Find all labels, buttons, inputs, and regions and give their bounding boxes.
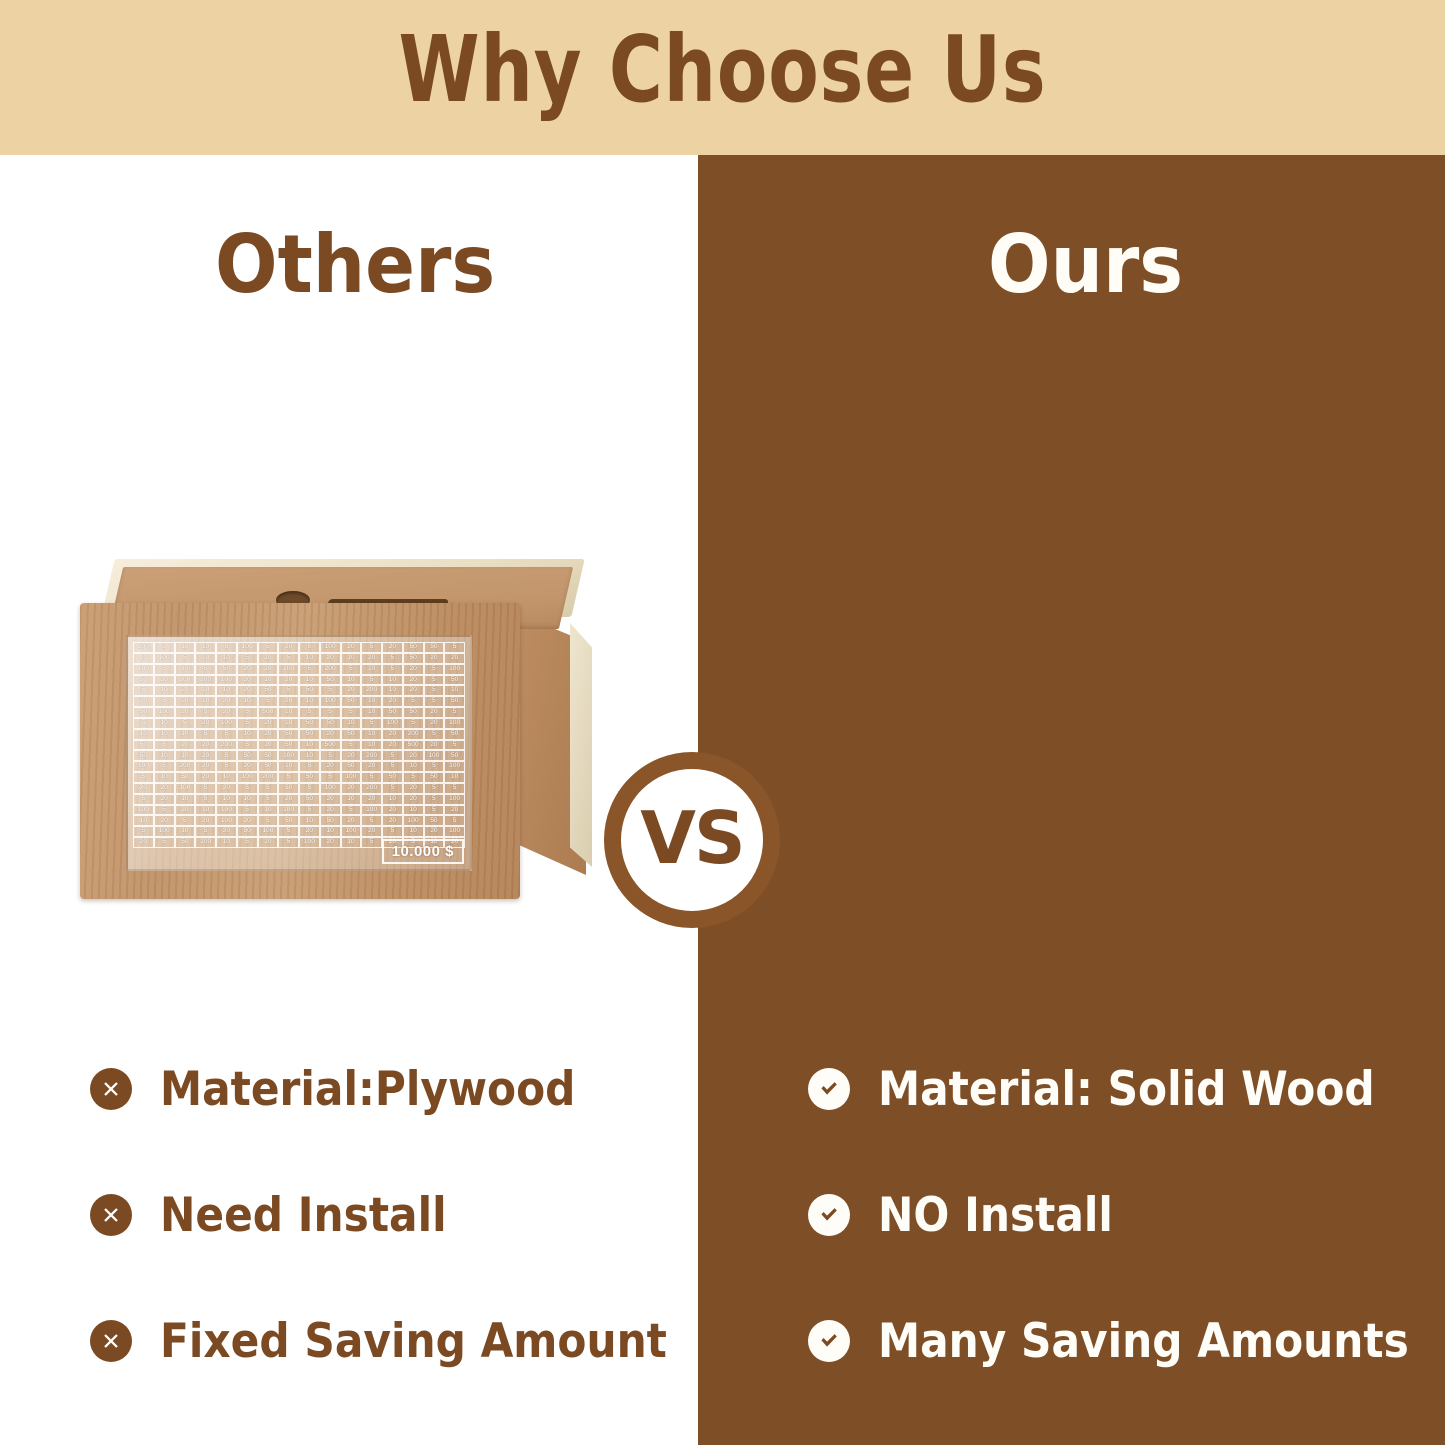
amount-cell: 20 [382,805,403,816]
amount-cell: 5 [195,794,216,805]
amount-cell: 50 [278,729,299,740]
amount-cell: 20 [341,783,362,794]
amount-cell: 500 [320,740,341,751]
amount-cell: 20 [258,664,279,675]
amount-cell: 5 [320,707,341,718]
amount-cell: 10 [154,729,175,740]
list-item: NO Install [808,1171,1445,1259]
amount-cell: 10 [444,772,465,783]
amount-cell: 200 [403,729,424,740]
amount-cell: 5 [278,837,299,848]
amount-cell: 10 [195,805,216,816]
amount-cell: 20 [195,740,216,751]
amount-cell: 20 [216,783,237,794]
amount-cell: 20 [258,837,279,848]
amount-cell: 5 [278,826,299,837]
amount-cell: 20 [403,685,424,696]
amount-cell: 5 [424,783,445,794]
amount-cell: 50 [299,729,320,740]
amount-cell: 20 [278,642,299,653]
amount-cell: 200 [361,750,382,761]
amount-cell: 5 [154,642,175,653]
amount-cell: 20 [424,653,445,664]
amount-cell: 20 [444,653,465,664]
amount-cell: 50 [444,696,465,707]
amount-cell: 20 [424,718,445,729]
amount-cell: 20 [320,794,341,805]
amount-cell: 20 [320,653,341,664]
amount-cell: 10 [278,707,299,718]
amount-cell: 100 [444,826,465,837]
amount-cell: 200 [258,772,279,783]
ours-feature-list: Material: Solid Wood NO Install Many Sav… [808,1045,1445,1423]
others-feature-list: Material:Plywood Need Install Fixed Savi… [90,1045,723,1423]
amount-cell: 10 [299,675,320,686]
amount-cell: 100 [154,826,175,837]
amount-cell: 10 [175,750,196,761]
amount-cell: 20 [320,805,341,816]
amount-cell: 100 [320,642,341,653]
amount-cell: 20 [175,707,196,718]
amount-cell: 5 [403,718,424,729]
amount-cell: 20 [237,815,258,826]
amount-cell: 10 [299,750,320,761]
amount-cell: 20 [278,696,299,707]
cross-circle-icon [90,1194,132,1236]
amount-cell: 50 [258,761,279,772]
amount-cell: 5 [154,837,175,848]
amount-cell: 5 [361,675,382,686]
amount-cell: 50 [382,707,403,718]
list-item-label: Fixed Saving Amount [160,1314,667,1369]
amount-cell: 20 [258,740,279,751]
amount-cell: 10 [175,642,196,653]
amount-cell: 10 [299,696,320,707]
amount-cell: 5 [299,642,320,653]
page-title: Why Choose Us [145,22,1301,119]
amount-cell: 100 [299,837,320,848]
amount-cell: 50 [341,761,362,772]
amount-cell: 50 [424,772,445,783]
amount-cell: 5 [361,772,382,783]
list-item-label: Material:Plywood [160,1062,575,1117]
amount-cell: 50 [382,772,403,783]
amount-cell: 50 [424,642,445,653]
amount-cell: 5 [258,794,279,805]
amount-cell: 10 [403,826,424,837]
amount-cell: 10 [320,826,341,837]
amount-cell: 5 [258,642,279,653]
amount-cell: 50 [320,718,341,729]
amount-cell: 10 [133,729,154,740]
amount-cell: 10 [361,729,382,740]
amount-cell: 20 [195,750,216,761]
amount-cell: 10 [361,707,382,718]
vs-badge: VS [604,752,780,928]
amount-cell: 100 [444,664,465,675]
amount-cell: 50 [403,707,424,718]
amount-cell: 5 [237,740,258,751]
amount-cell: 100 [320,696,341,707]
amount-cell: 50 [175,837,196,848]
check-circle-icon [808,1068,850,1110]
amount-cell: 5 [299,805,320,816]
amount-cell: 5 [341,664,362,675]
amount-cell: 5 [237,783,258,794]
amount-cell: 100 [278,805,299,816]
amount-cell: 50 [320,675,341,686]
amount-cell: 200 [216,740,237,751]
ours-panel: Ours 10010105020501002020100505020120550… [698,155,1445,1445]
amount-cell: 5 [258,783,279,794]
amount-cell: 5 [444,740,465,751]
amount-cell: 20 [341,815,362,826]
amount-cell: 20 [154,794,175,805]
amount-cell: 10 [382,794,403,805]
amount-cell: 5 [424,805,445,816]
cross-circle-icon [90,1320,132,1362]
amount-cell: 10 [175,664,196,675]
amount-cell: 10 [444,685,465,696]
amount-cell: 5 [133,685,154,696]
amount-cell: 10 [258,675,279,686]
plywood-front-face: 2005101051005205100205205050510100520105… [80,603,520,899]
amount-cell: 50 [403,653,424,664]
amount-cell: 5 [424,685,445,696]
amount-cell: 100 [216,718,237,729]
amount-cell: 500 [258,707,279,718]
amount-cell: 100 [424,750,445,761]
amount-cell: 20 [382,815,403,826]
amount-cell: 5 [237,707,258,718]
amount-cell: 5 [237,837,258,848]
amount-cell: 10 [341,718,362,729]
amount-cell: 20 [175,805,196,816]
list-item: Need Install [90,1171,723,1259]
amount-cell: 5 [424,794,445,805]
amount-cell: 10 [216,837,237,848]
amount-cell: 20 [424,707,445,718]
amount-cell: 10 [175,794,196,805]
amount-cell: 10 [382,675,403,686]
amount-cell: 100 [237,642,258,653]
vs-label: VS [640,802,744,874]
amount-cell: 20 [444,805,465,816]
amount-cell: 5 [258,815,279,826]
amount-cell: 10 [175,729,196,740]
amount-cell: 100 [216,805,237,816]
amount-cell: 5 [444,642,465,653]
amount-cell: 5 [382,664,403,675]
amount-cell: 100 [195,837,216,848]
amount-cell: 10 [216,685,237,696]
list-item: Material:Plywood [90,1045,723,1133]
amount-cell: 5 [237,805,258,816]
plywood-amount-grid: 2005101051005205100205205050510100520105… [133,642,465,848]
amount-cell: 20 [341,685,362,696]
amount-cell: 20 [424,826,445,837]
amount-cell: 5 [382,783,403,794]
amount-cell: 500 [403,740,424,751]
amount-cell: 10 [299,653,320,664]
amount-cell: 200 [361,685,382,696]
amount-cell: 20 [216,707,237,718]
amount-cell: 10 [382,685,403,696]
amount-cell: 20 [154,783,175,794]
amount-cell: 5 [424,696,445,707]
amount-cell: 20 [320,837,341,848]
amount-cell: 10 [341,837,362,848]
amount-cell: 10 [361,740,382,751]
amount-cell: 10 [195,696,216,707]
amount-cell: 20 [382,642,403,653]
amount-cell: 10 [403,761,424,772]
amount-cell: 100 [237,772,258,783]
amount-cell: 10 [216,794,237,805]
amount-cell: 5 [403,696,424,707]
amount-cell: 5 [195,664,216,675]
amount-cell: 20 [258,729,279,740]
amount-cell: 200 [361,783,382,794]
plywood-side-ply-edge [570,623,592,867]
amount-cell: 5 [424,761,445,772]
amount-cell: 200 [133,642,154,653]
check-circle-icon [808,1194,850,1236]
amount-cell: 5 [320,772,341,783]
amount-cell: 20 [133,696,154,707]
amount-cell: 10 [237,696,258,707]
amount-cell: 20 [154,675,175,686]
plywood-acrylic-panel: 2005101051005205100205205050510100520105… [126,635,472,871]
amount-cell: 10 [237,794,258,805]
amount-cell: 5 [361,815,382,826]
amount-cell: 100 [444,718,465,729]
amount-cell: 100 [154,707,175,718]
amount-cell: 20 [361,794,382,805]
amount-cell: 20 [299,826,320,837]
amount-cell: 100 [216,815,237,826]
amount-cell: 20 [216,696,237,707]
amount-cell: 50 [444,675,465,686]
amount-cell: 50 [175,772,196,783]
amount-cell: 10 [195,685,216,696]
amount-cell: 100 [133,805,154,816]
amount-cell: 5 [320,750,341,761]
amount-cell: 100 [403,815,424,826]
amount-cell: 100 [154,653,175,664]
amount-cell: 50 [403,642,424,653]
amount-cell: 20 [258,718,279,729]
others-panel: Others 200510105100520510020520505051010… [0,155,698,1445]
amount-cell: 10 [361,664,382,675]
list-item-label: NO Install [878,1188,1113,1243]
amount-cell: 50 [216,664,237,675]
amount-cell: 20 [237,664,258,675]
amount-cell: 10 [403,805,424,816]
amount-cell: 10 [154,718,175,729]
amount-cell: 5 [154,696,175,707]
amount-cell: 20 [258,653,279,664]
amount-cell: 20 [133,837,154,848]
amount-cell: 50 [444,750,465,761]
amount-cell: 10 [154,750,175,761]
list-item-label: Many Saving Amounts [878,1314,1409,1369]
amount-cell: 200 [175,675,196,686]
amount-cell: 5 [258,696,279,707]
amount-cell: 5 [278,653,299,664]
amount-cell: 5 [195,729,216,740]
amount-cell: 50 [299,794,320,805]
amount-cell: 100 [341,826,362,837]
amount-cell: 5 [133,794,154,805]
ours-heading: Ours [988,218,1183,311]
amount-cell: 5 [133,718,154,729]
amount-cell: 50 [299,685,320,696]
amount-cell: 20 [403,794,424,805]
amount-cell: 20 [341,750,362,761]
amount-cell: 5 [216,642,237,653]
amount-cell: 50 [133,675,154,686]
amount-cell: 100 [382,718,403,729]
amount-cell: 50 [320,815,341,826]
amount-cell: 20 [424,740,445,751]
amount-cell: 20 [237,761,258,772]
amount-cell: 20 [195,815,216,826]
amount-cell: 20 [237,685,258,696]
amount-cell: 5 [237,653,258,664]
amount-cell: 200 [195,675,216,686]
amount-cell: 20 [382,696,403,707]
amount-cell: 5 [424,664,445,675]
amount-cell: 50 [424,815,445,826]
amount-cell: 20 [403,783,424,794]
amount-cell: 20 [403,750,424,761]
amount-cell: 10 [299,740,320,751]
amount-cell: 20 [382,740,403,751]
list-item-label: Need Install [160,1188,447,1243]
amount-cell: 50 [133,750,154,761]
amount-cell: 5 [299,783,320,794]
amount-cell: 5 [216,750,237,761]
amount-cell: 50 [299,772,320,783]
amount-cell: 5 [299,664,320,675]
amount-cell: 5 [175,815,196,826]
amount-cell: 10 [237,729,258,740]
others-heading: Others [215,218,495,311]
amount-cell: 100 [133,664,154,675]
amount-cell: 20 [361,826,382,837]
cross-circle-icon [90,1068,132,1110]
amount-cell: 5 [154,740,175,751]
amount-cell: 5 [133,826,154,837]
amount-cell: 50 [278,815,299,826]
amount-cell: 20 [175,685,196,696]
amount-cell: 10 [258,805,279,816]
amount-cell: 50 [237,750,258,761]
amount-cell: 20 [195,653,216,664]
amount-cell: 50 [278,783,299,794]
amount-cell: 5 [341,707,362,718]
amount-cell: 50 [258,750,279,761]
amount-cell: 5 [133,772,154,783]
amount-cell: 10 [175,826,196,837]
amount-cell: 5 [195,707,216,718]
amount-cell: 10 [154,685,175,696]
amount-cell: 5 [424,729,445,740]
amount-cell: 100 [175,783,196,794]
amount-cell: 10 [195,642,216,653]
amount-cell: 5 [361,718,382,729]
amount-cell: 100 [258,826,279,837]
amount-cell: 5 [382,826,403,837]
amount-cell: 20 [175,740,196,751]
amount-cell: 5 [154,761,175,772]
amount-cell: 10 [133,653,154,664]
amount-cell: 20 [195,772,216,783]
plywood-total-amount: 10.000 $ [382,839,464,864]
amount-cell: 5 [175,718,196,729]
amount-cell: 100 [216,675,237,686]
amount-cell: 10 [299,815,320,826]
amount-cell: 10 [133,815,154,826]
amount-cell: 200 [175,761,196,772]
amount-cell: 20 [361,761,382,772]
amount-cell: 10 [216,772,237,783]
amount-cell: 50 [341,696,362,707]
amount-cell: 20 [154,815,175,826]
amount-cell: 5 [278,772,299,783]
amount-cell: 5 [444,783,465,794]
amount-cell: 50 [258,685,279,696]
amount-cell: 10 [341,653,362,664]
amount-cell: 5 [382,761,403,772]
amount-cell: 5 [216,729,237,740]
amount-cell: 10 [341,794,362,805]
amount-cell: 100 [133,761,154,772]
amount-cell: 100 [361,805,382,816]
amount-cell: 5 [175,653,196,664]
amount-cell: 5 [361,642,382,653]
amount-cell: 100 [444,794,465,805]
amount-cell: 50 [278,740,299,751]
amount-cell: 50 [133,740,154,751]
amount-cell: 5 [382,750,403,761]
list-item: Many Saving Amounts [808,1297,1445,1385]
list-item: Fixed Saving Amount [90,1297,723,1385]
amount-cell: 50 [444,729,465,740]
amount-cell: 10 [216,653,237,664]
amount-cell: 5 [216,761,237,772]
amount-cell: 5 [299,761,320,772]
amount-cell: 20 [195,718,216,729]
amount-cell: 50 [133,707,154,718]
amount-cell: 20 [320,729,341,740]
amount-cell: 10 [278,761,299,772]
amount-cell: 20 [341,642,362,653]
amount-cell: 5 [195,826,216,837]
amount-cell: 20 [403,664,424,675]
amount-cell: 100 [278,750,299,761]
amount-cell: 5 [424,675,445,686]
amount-cell: 5 [403,772,424,783]
amount-cell: 100 [341,772,362,783]
amount-cell: 5 [299,707,320,718]
amount-cell: 200 [320,664,341,675]
amount-cell: 10 [361,696,382,707]
amount-cell: 20 [403,675,424,686]
amount-cell: 20 [133,783,154,794]
amount-cell: 10 [341,675,362,686]
